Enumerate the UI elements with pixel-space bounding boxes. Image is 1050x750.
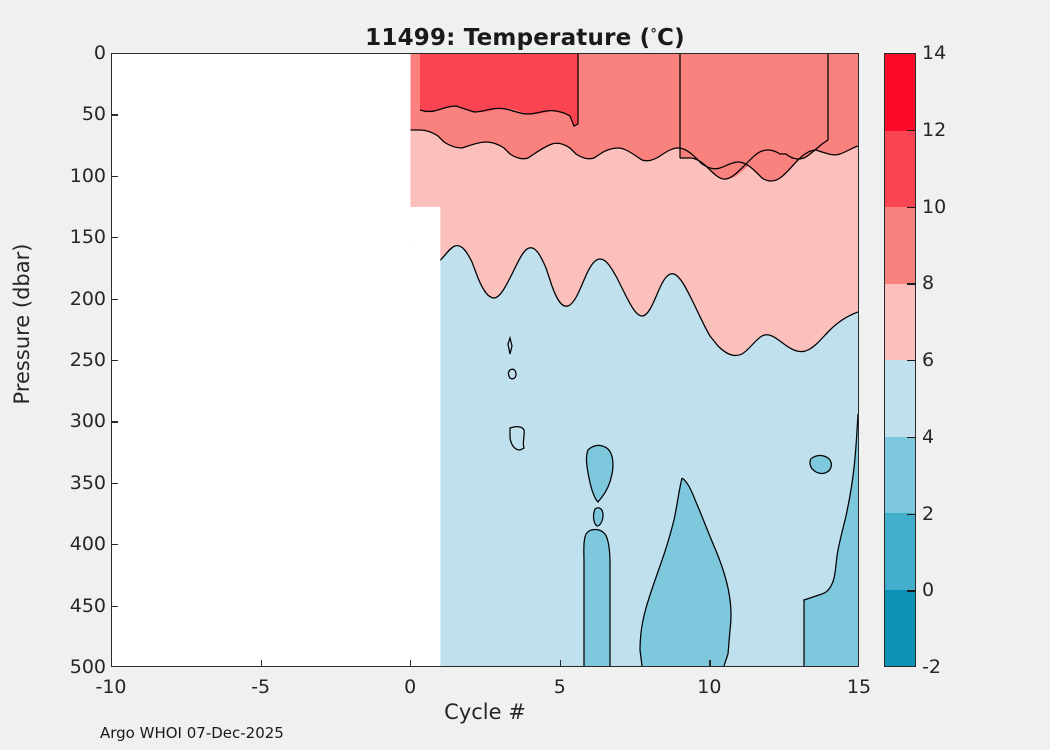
x-axis-label: Cycle # [111, 700, 859, 724]
y-tick-mark [111, 544, 118, 545]
colorbar-tick-mark [907, 437, 916, 438]
colorbar-tick-mark [907, 207, 916, 208]
colorbar-tick-mark [907, 283, 916, 284]
colorbar-band-2-4 [885, 437, 915, 514]
colorbar-band-12-14 [885, 54, 915, 131]
colorbar-tick-label: 0 [922, 579, 934, 601]
colorbar-band-0-2 [885, 513, 915, 590]
colorbar-tick-mark [907, 514, 916, 515]
colorbar-tick-mark [907, 130, 916, 131]
colorbar-tick-label: -2 [922, 656, 941, 678]
x-tick-label: -5 [221, 676, 301, 698]
colorbar-band-4-6 [885, 360, 915, 437]
colorbar-band-8-10 [885, 207, 915, 284]
title-prefix: 11499: Temperature ( [365, 25, 650, 51]
colorbar-band-6-8 [885, 284, 915, 361]
colorbar-band-minus2-0 [885, 590, 915, 667]
colorbar-tick-mark [907, 590, 916, 591]
y-tick-mark [111, 299, 118, 300]
x-tick-label: 5 [520, 676, 600, 698]
colorbar-tick-label: 4 [922, 426, 934, 448]
footer-credit: Argo WHOI 07-Dec-2025 [100, 724, 284, 742]
x-tick-label: 10 [669, 676, 749, 698]
filled-contours [410, 54, 858, 666]
plot-area[interactable] [111, 53, 859, 667]
colorbar-tick-label: 6 [922, 349, 934, 371]
colorbar-tick-mark [907, 360, 916, 361]
title-suffix: C) [657, 25, 685, 51]
colorbar-tick-label: 12 [922, 119, 946, 141]
y-tick-mark [111, 360, 118, 361]
y-tick-mark [111, 421, 118, 422]
y-tick-mark [111, 606, 118, 607]
x-tick-mark [410, 660, 411, 667]
y-tick-mark [111, 483, 118, 484]
x-tick-mark [261, 660, 262, 667]
y-axis-label: Pressure (dbar) [10, 44, 34, 604]
y-tick-label: 500 [16, 656, 106, 678]
x-tick-label: 0 [370, 676, 450, 698]
figure-canvas: 11499: Temperature (°C) [0, 0, 1050, 750]
y-tick-mark [111, 237, 118, 238]
colorbar-tick-label: 2 [922, 503, 934, 525]
y-tick-mark [111, 114, 118, 115]
contour-field [112, 54, 858, 666]
colorbar-tick-label: 10 [922, 196, 946, 218]
y-tick-mark [111, 176, 118, 177]
colorbar-band-10-12 [885, 131, 915, 208]
colorbar-tick-label: 14 [922, 42, 946, 64]
x-tick-label: -10 [71, 676, 151, 698]
colorbar-tick-label: 8 [922, 272, 934, 294]
page-title: 11499: Temperature (°C) [0, 25, 1050, 51]
x-tick-mark [560, 660, 561, 667]
no-data-mask [112, 54, 440, 666]
x-tick-mark [709, 660, 710, 667]
x-tick-label: 15 [819, 676, 899, 698]
